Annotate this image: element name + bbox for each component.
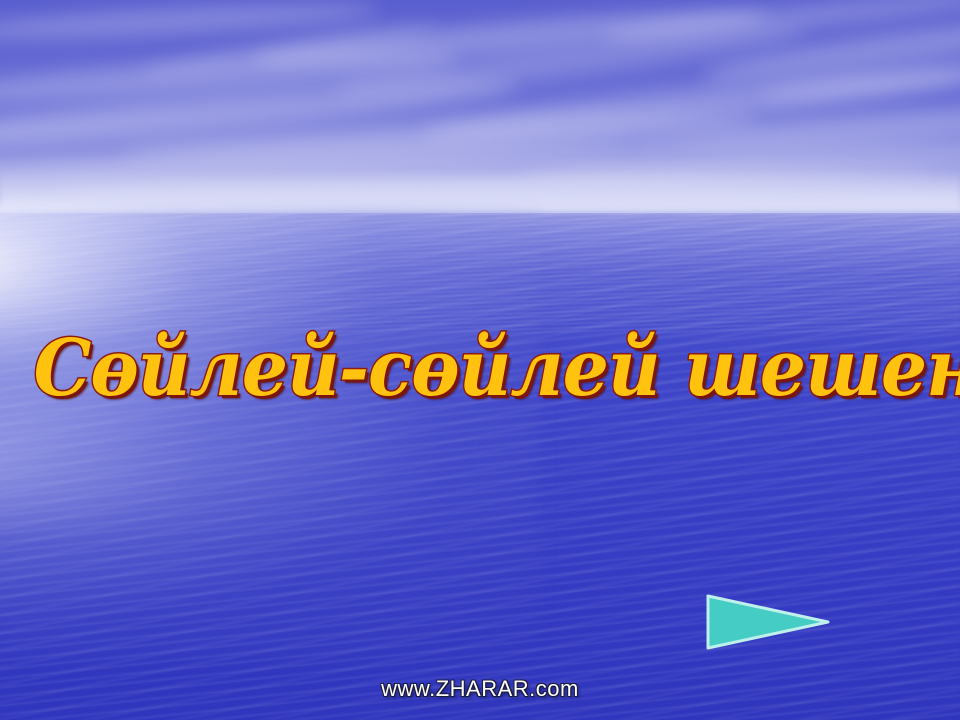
cloud-wisp [640, 101, 960, 164]
horizon-haze [0, 170, 960, 218]
presentation-slide: Сөйлей-сөйлей шешен боларсың www.ZHARAR.… [0, 0, 960, 720]
cloud-wisp [250, 0, 771, 75]
play-triangle-icon[interactable] [705, 593, 831, 651]
cloud-wisp [760, 53, 960, 107]
cloud-wisp [600, 0, 960, 50]
cloud-wisp [330, 19, 810, 103]
cloud-wisp [700, 8, 960, 91]
cloud-wisp [0, 42, 461, 112]
cloud-wisp [0, 0, 380, 45]
sky-background [0, 0, 960, 216]
cloud-wisp [140, 17, 439, 82]
next-slide-button[interactable] [705, 593, 831, 651]
cloud-wisp [420, 59, 960, 147]
cloud-wisp [0, 70, 520, 154]
cloud-wisp [120, 107, 760, 166]
footer-watermark: www.ZHARAR.com [0, 676, 960, 702]
